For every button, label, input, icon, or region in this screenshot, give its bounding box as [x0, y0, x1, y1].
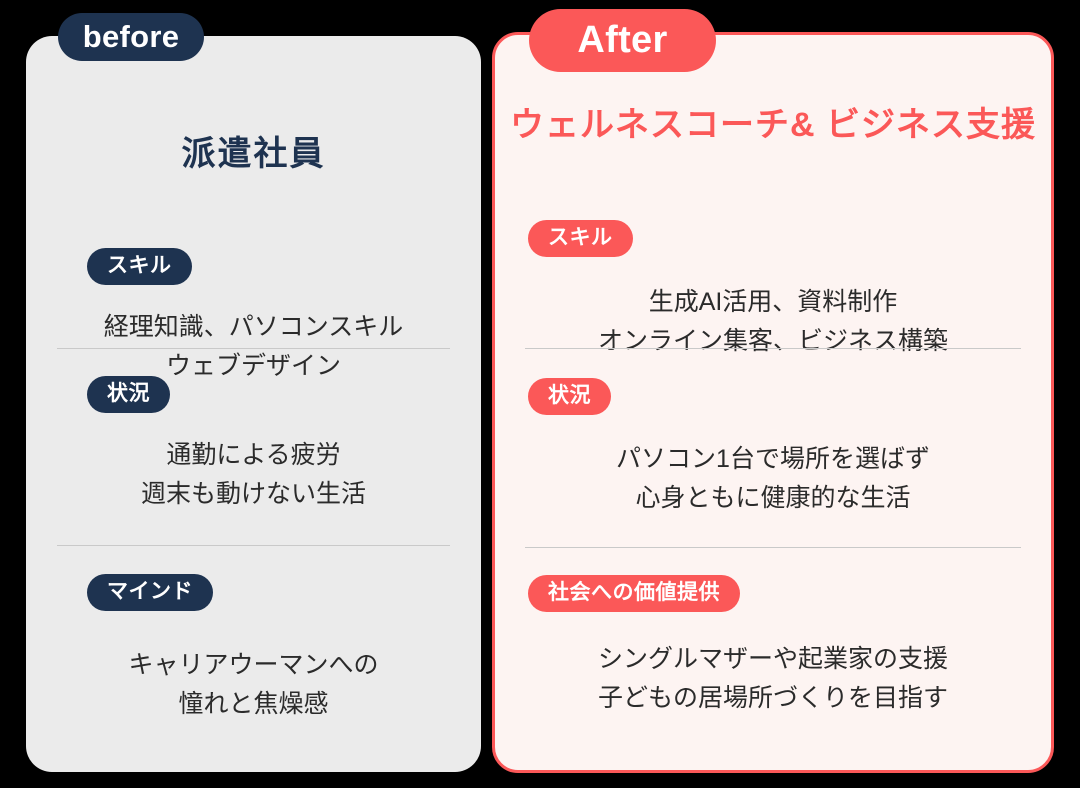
after-chip-social-value-wrap: 社会への価値提供 — [528, 575, 740, 612]
after-badge: After — [529, 9, 716, 72]
after-divider-2 — [525, 547, 1021, 548]
text-line: 生成AI活用、資料制作 — [525, 283, 1021, 322]
after-section-body-social-value: シングルマザーや起業家の支援 子どもの居場所づくりを目指す — [525, 640, 1021, 718]
before-section-body-mind: キャリアウーマンへの 憧れと焦燥感 — [56, 646, 451, 724]
after-divider-1 — [525, 348, 1021, 349]
text-line: 通勤による疲労 — [56, 436, 451, 475]
text-line: 憧れと焦燥感 — [56, 685, 451, 724]
before-section-body-situation: 通勤による疲労 週末も動けない生活 — [56, 436, 451, 514]
text-line: キャリアウーマンへの — [56, 646, 451, 685]
text-line: 子どもの居場所づくりを目指す — [525, 679, 1021, 718]
text-line: オンライン集客、ビジネス構築 — [525, 322, 1021, 361]
before-card-inner: 派遣社員 スキル 経理知識、パソコンスキル ウェブデザイン 状況 通勤による疲労 — [26, 36, 481, 772]
after-card-inner: ウェルネスコーチ& ビジネス支援 スキル 生成AI活用、資料制作 オンライン集客… — [495, 35, 1051, 770]
after-section-label-skill: スキル — [528, 220, 633, 257]
text-line: 心身ともに健康的な生活 — [525, 479, 1021, 518]
text-line: パソコン1台で場所を選ばず — [525, 440, 1021, 479]
text-line: シングルマザーや起業家の支援 — [525, 640, 1021, 679]
after-section-label-social-value: 社会への価値提供 — [528, 575, 740, 612]
after-chip-situation-wrap: 状況 — [528, 378, 611, 415]
before-card: 派遣社員 スキル 経理知識、パソコンスキル ウェブデザイン 状況 通勤による疲労 — [26, 36, 481, 772]
before-section-body-skill: 経理知識、パソコンスキル ウェブデザイン — [56, 308, 451, 386]
title-line: ビジネス支援 — [826, 106, 1036, 144]
before-section-label-skill: スキル — [87, 248, 192, 285]
after-chip-skill-wrap: スキル — [528, 220, 633, 257]
text-line: 経理知識、パソコンスキル — [56, 308, 451, 347]
after-section-body-situation: パソコン1台で場所を選ばず 心身ともに健康的な生活 — [525, 440, 1021, 518]
before-divider-2 — [57, 545, 450, 546]
before-section-label-mind: マインド — [87, 574, 213, 611]
after-section-label-situation: 状況 — [528, 378, 611, 415]
before-chip-skill-wrap: スキル — [87, 248, 192, 285]
before-card-title: 派遣社員 — [26, 132, 481, 176]
before-divider-1 — [57, 348, 450, 349]
after-card: ウェルネスコーチ& ビジネス支援 スキル 生成AI活用、資料制作 オンライン集客… — [492, 32, 1054, 773]
text-line: 週末も動けない生活 — [56, 475, 451, 514]
before-section-label-situation: 状況 — [87, 376, 170, 413]
before-chip-situation-wrap: 状況 — [87, 376, 170, 413]
after-card-title: ウェルネスコーチ& ビジネス支援 — [495, 103, 1051, 147]
before-chip-mind-wrap: マインド — [87, 574, 213, 611]
before-badge: before — [58, 13, 204, 61]
title-line: ウェルネスコーチ& — [510, 106, 816, 144]
comparison-board: 派遣社員 スキル 経理知識、パソコンスキル ウェブデザイン 状況 通勤による疲労 — [0, 0, 1080, 788]
